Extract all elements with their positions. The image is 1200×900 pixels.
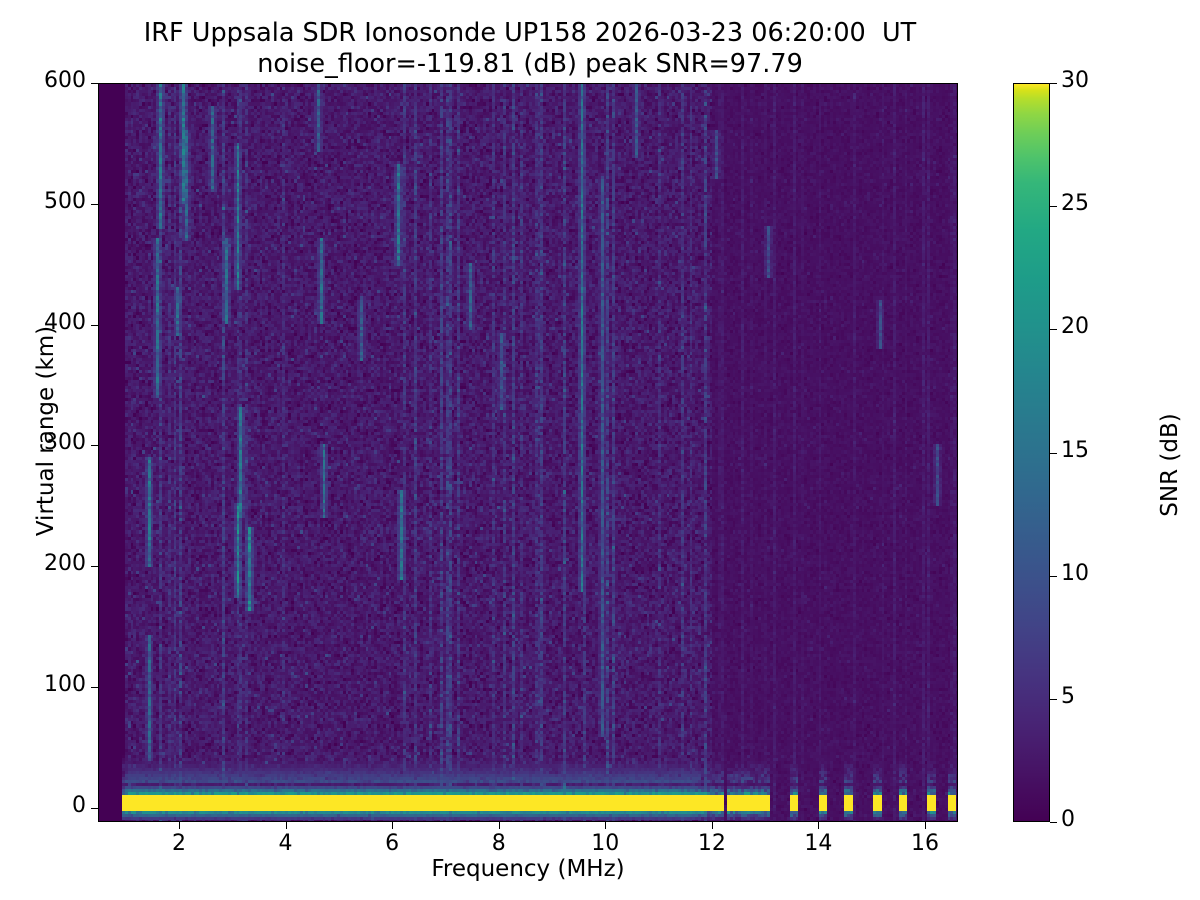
y-tick-mark (91, 83, 98, 84)
figure-title: IRF Uppsala SDR Ionosonde UP158 2026-03-… (0, 18, 1060, 80)
colorbar-tick-label: 10 (1061, 561, 1089, 586)
colorbar-tick-label: 5 (1061, 684, 1075, 709)
x-tick-mark (925, 822, 926, 829)
ionogram-heatmap-canvas[interactable] (99, 84, 958, 822)
x-tick-mark (712, 822, 713, 829)
y-tick-mark (91, 204, 98, 205)
x-tick-label: 8 (459, 831, 539, 856)
y-tick-mark (91, 445, 98, 446)
x-axis-label: Frequency (MHz) (98, 856, 958, 882)
y-tick-label: 0 (0, 793, 86, 818)
snr-colorbar[interactable] (1013, 83, 1050, 822)
colorbar-tick-mark (1050, 699, 1057, 700)
y-axis-label: Virtual range (km) (33, 261, 59, 601)
y-tick-mark (91, 566, 98, 567)
colorbar-tick-label: 25 (1061, 191, 1089, 216)
x-tick-label: 6 (352, 831, 432, 856)
ionogram-plot-area[interactable] (98, 83, 958, 822)
y-tick-label: 100 (0, 672, 86, 697)
y-tick-label: 500 (0, 189, 86, 214)
x-tick-label: 10 (565, 831, 645, 856)
x-tick-label: 14 (778, 831, 858, 856)
x-tick-label: 2 (139, 831, 219, 856)
x-tick-label: 12 (672, 831, 752, 856)
colorbar-tick-mark (1050, 206, 1057, 207)
y-tick-mark (91, 687, 98, 688)
colorbar-tick-mark (1050, 822, 1057, 823)
x-tick-label: 16 (885, 831, 965, 856)
colorbar-tick-mark (1050, 83, 1057, 84)
colorbar-label: SNR (dB) (1157, 295, 1183, 635)
x-tick-mark (392, 822, 393, 829)
colorbar-tick-label: 0 (1061, 807, 1075, 832)
x-tick-mark (605, 822, 606, 829)
y-tick-mark (91, 325, 98, 326)
x-tick-label: 4 (246, 831, 326, 856)
colorbar-tick-label: 30 (1061, 68, 1089, 93)
title-line-1: IRF Uppsala SDR Ionosonde UP158 2026-03-… (0, 18, 1060, 49)
x-tick-mark (818, 822, 819, 829)
colorbar-tick-mark (1050, 329, 1057, 330)
x-tick-mark (179, 822, 180, 829)
ionogram-figure: IRF Uppsala SDR Ionosonde UP158 2026-03-… (0, 0, 1200, 900)
x-tick-mark (499, 822, 500, 829)
colorbar-tick-mark (1050, 576, 1057, 577)
colorbar-tick-label: 20 (1061, 314, 1089, 339)
colorbar-tick-label: 15 (1061, 438, 1089, 463)
x-tick-mark (286, 822, 287, 829)
colorbar-tick-mark (1050, 453, 1057, 454)
title-line-2: noise_floor=-119.81 (dB) peak SNR=97.79 (0, 49, 1060, 80)
y-tick-label: 600 (0, 68, 86, 93)
y-tick-mark (91, 808, 98, 809)
